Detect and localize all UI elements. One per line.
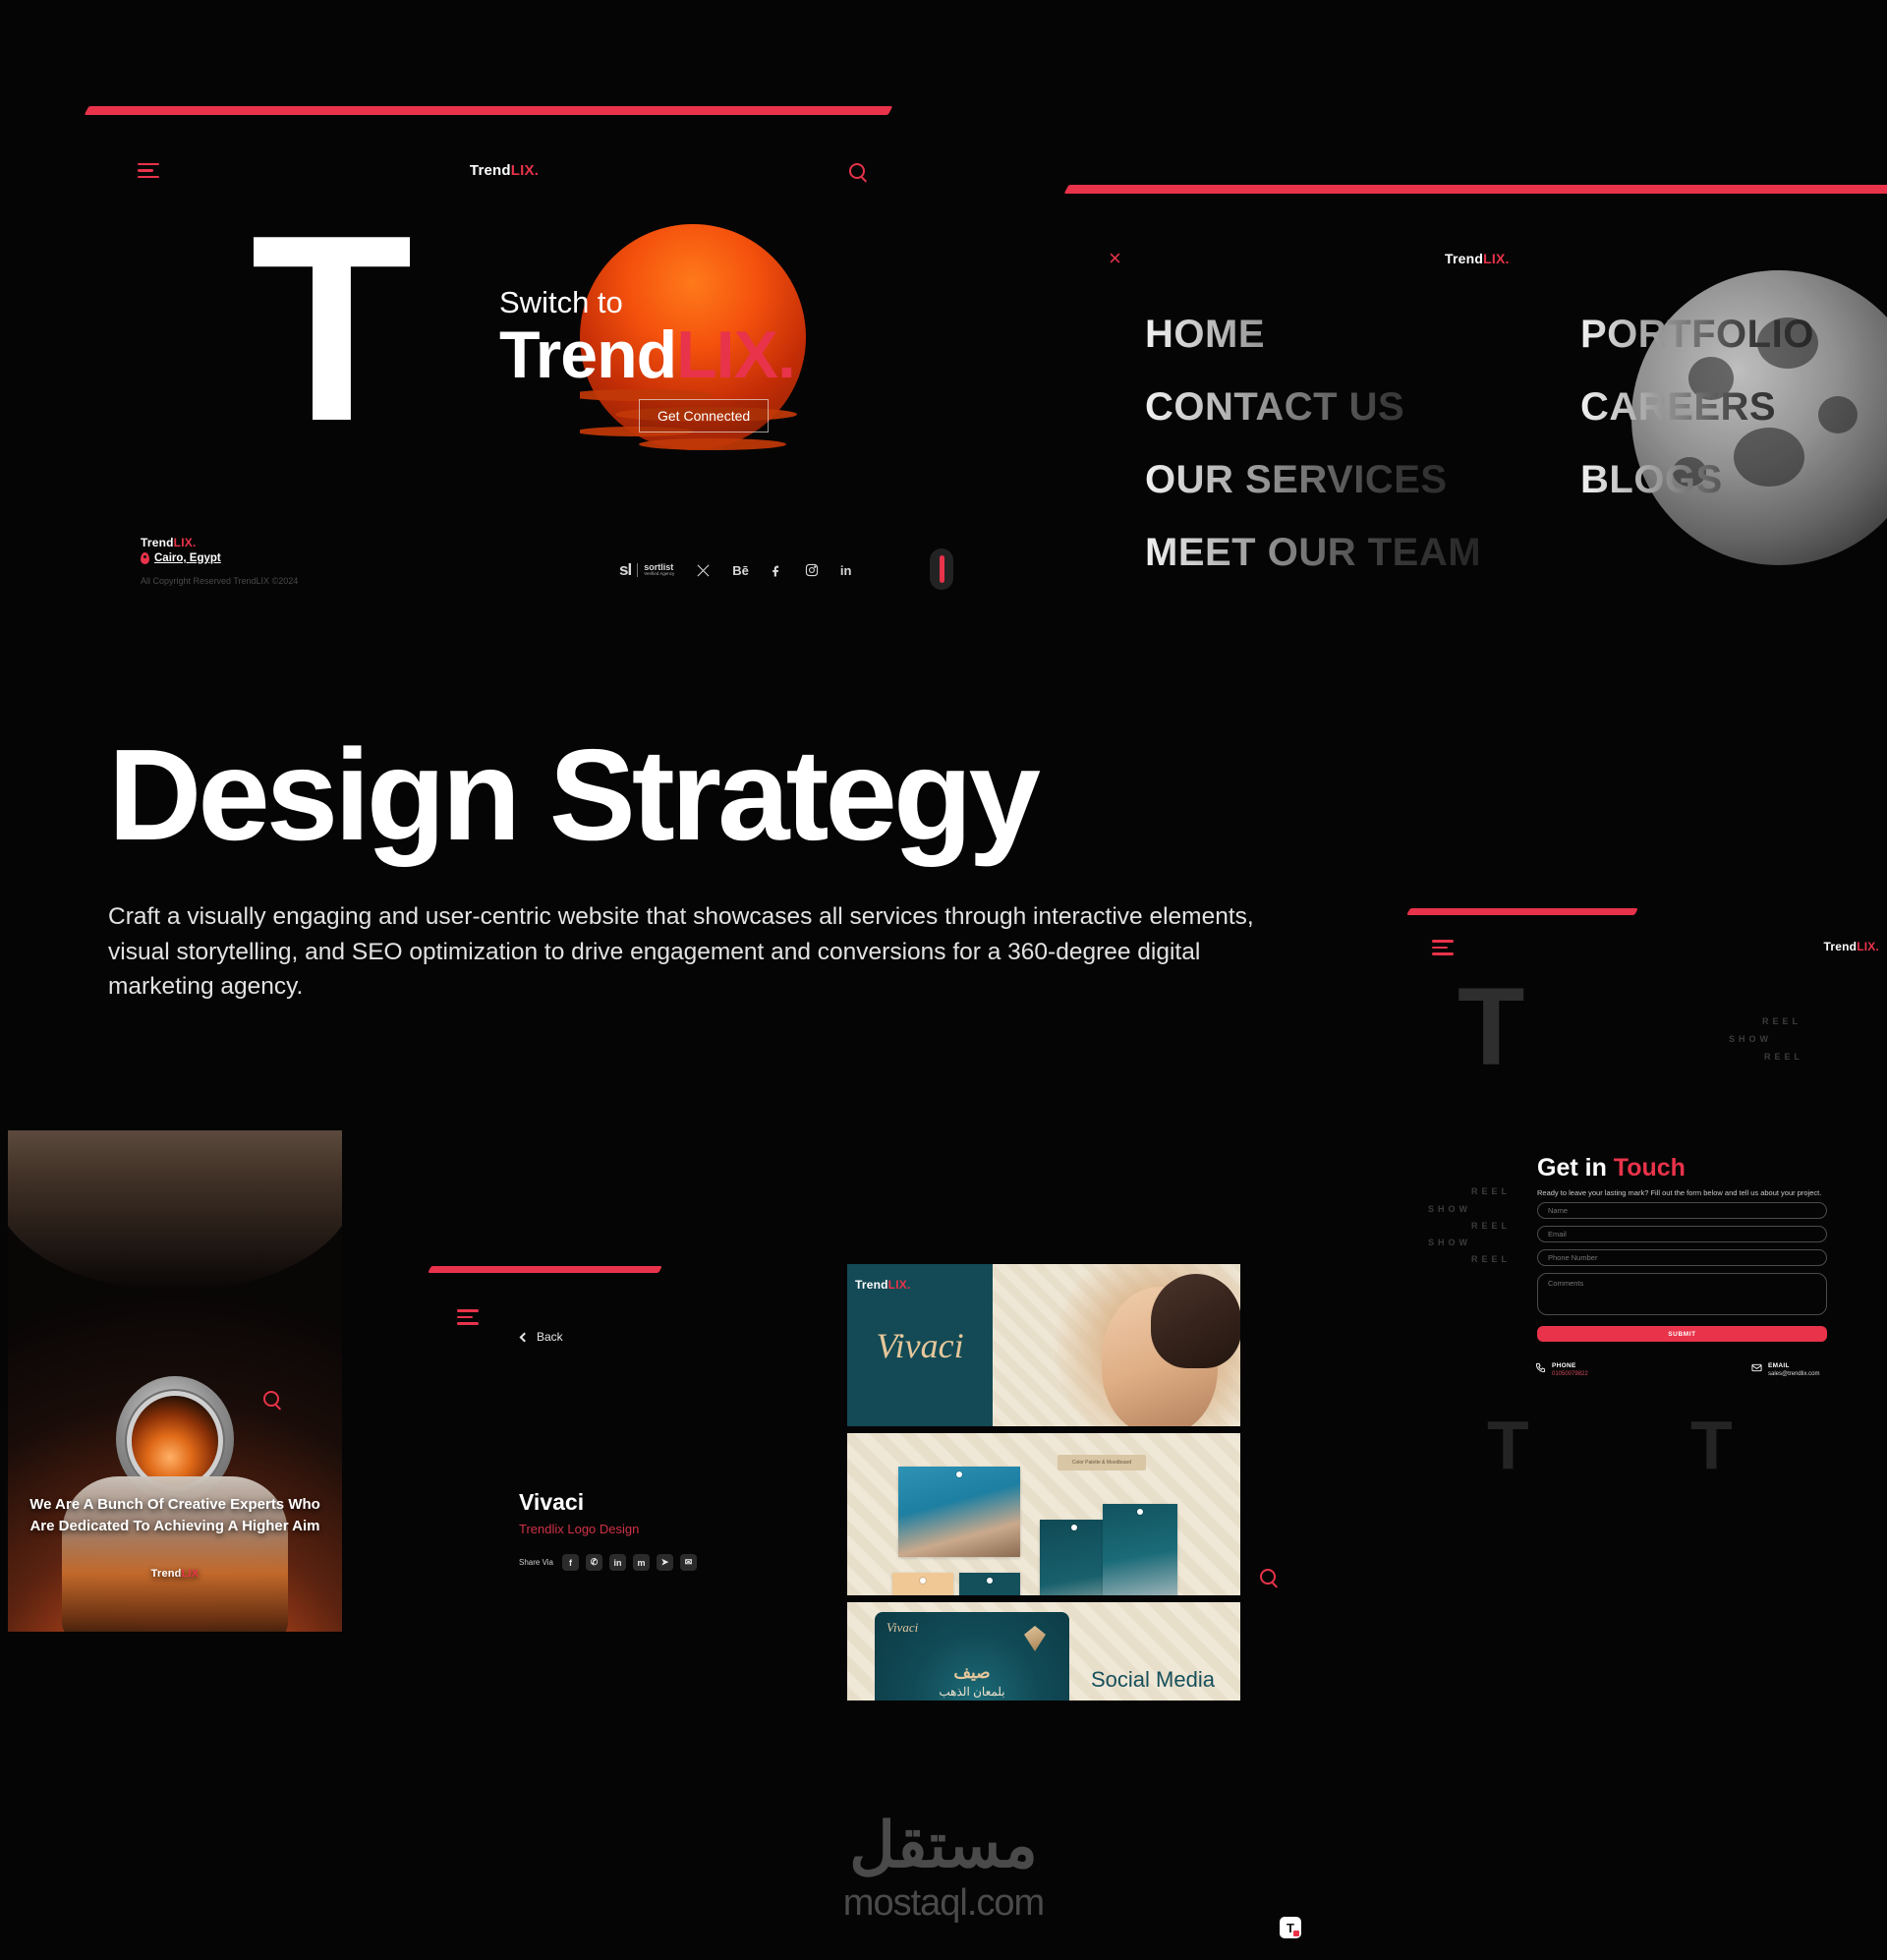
menu-item-blogs[interactable]: BLOGS [1580,460,1814,499]
astronaut-logo-accent: LIX [182,1568,200,1580]
mockup-logo-accent: LIX. [888,1278,911,1292]
share-label: Share Via [519,1558,553,1567]
reel-word: SHOW [1428,1238,1471,1247]
hero-navbar: TrendLIX. [138,162,865,179]
logo-text-primary: Trend [470,162,511,179]
footer-logo-accent: LIX. [174,536,197,549]
location-label: Cairo, Egypt [154,552,221,564]
instagram-icon[interactable] [805,563,819,577]
submit-button[interactable]: SUBMIT [1537,1326,1827,1342]
mockups-panel: TrendLIX. Vivaci Color Palette & Moodboa… [847,1256,1240,1767]
back-button[interactable]: Back [521,1330,563,1344]
astronaut-logo: TrendLIX [8,1568,342,1580]
messenger-share-icon[interactable]: m [633,1554,650,1571]
astronaut-visor [132,1396,218,1486]
get-connected-button[interactable]: Get Connected [639,399,769,432]
back-label: Back [537,1330,563,1344]
search-icon[interactable] [1260,1569,1276,1585]
logo-text-accent: LIX [511,162,535,179]
contact-logo-accent: LIX. [1857,940,1879,953]
menu-logo[interactable]: TrendLIX. [1445,251,1510,266]
hero-logo[interactable]: TrendLIX. [470,162,539,179]
moodboard-photo [898,1467,1020,1557]
social-links: sl sortlist Verified Agency Bē in [619,560,851,580]
hero-eyebrow: Switch to [499,285,623,320]
email-icon [1751,1362,1762,1373]
linkedin-share-icon[interactable]: in [609,1554,626,1571]
menu-item-portfolio[interactable]: PORTFOLIO [1580,315,1814,354]
color-swatch: Color Palette [959,1573,1020,1595]
hero-location[interactable]: Cairo, Egypt [141,552,221,564]
post-wordmark: Vivaci [886,1620,918,1636]
reel-word: SHOW [1428,1204,1471,1214]
strategy-section: Design Strategy Craft a visually engagin… [108,727,1415,1005]
trendlix-badge-icon[interactable]: T [1280,1917,1301,1938]
contact-title-accent: Touch [1614,1154,1686,1182]
hamburger-menu-icon[interactable] [457,1309,479,1325]
hero-footer-logo: TrendLIX. [141,536,196,549]
contact-logo-primary: Trend [1824,940,1858,953]
hero-headline-accent: LIX [676,317,777,392]
reel-word: SHOW [1729,1034,1772,1044]
watermark-latin: mostaql.com [843,1882,1044,1925]
hero-accent-bar [85,106,893,115]
search-icon[interactable] [849,163,865,179]
phone-icon [1535,1362,1546,1373]
menu-item-contact-us[interactable]: CONTACT US [1145,387,1481,427]
phone-label: PHONE [1552,1362,1588,1369]
astronaut-panel: We Are A Bunch Of Creative Experts Who A… [8,1130,342,1632]
project-detail-panel: Back Vivaci Trendlix Logo Design Share V… [413,1258,708,1573]
menu-item-our-services[interactable]: OUR SERVICES [1145,460,1481,499]
contact-title: Get in Touch [1537,1154,1686,1182]
astronaut-caption: We Are A Bunch Of Creative Experts Who A… [8,1494,342,1537]
hero-headline-dot: . [777,317,795,392]
reel-word: REEL [1764,1052,1803,1062]
scroll-indicator[interactable] [930,548,953,590]
hamburger-menu-icon[interactable] [138,163,159,179]
page-title: Design Strategy [108,727,1415,862]
contact-subtitle: Ready to leave your lasting mark? Fill o… [1537,1188,1821,1197]
vivaci-wordmark: Vivaci [876,1325,963,1366]
whatsapp-share-icon[interactable]: ✆ [586,1554,602,1571]
contact-logo[interactable]: TrendLIX. [1824,940,1879,953]
phone-field[interactable] [1537,1249,1827,1266]
share-row: Share Via f ✆ in m ➤ ✉ [519,1554,697,1571]
hero-letter-mark: T [251,226,407,433]
strategy-description: Craft a visually engaging and user-centr… [108,899,1278,1005]
menu-item-careers[interactable]: CAREERS [1580,387,1814,427]
email-info[interactable]: EMAIL sales@trendlix.com [1751,1362,1819,1377]
menu-logo-primary: Trend [1445,251,1483,266]
chevron-left-icon [520,1332,530,1342]
menu-accent-bar [1064,185,1887,194]
menu-item-home[interactable]: HOME [1145,315,1481,354]
footer-logo-primary: Trend [141,536,174,549]
email-label: EMAIL [1768,1362,1819,1369]
facebook-share-icon[interactable]: f [562,1554,579,1571]
moodboard-photo [1040,1520,1109,1595]
poster-canvas: TrendLIX. T Switch to TrendLIX. Get Conn… [0,0,1887,1960]
mockup-logo-primary: Trend [855,1278,888,1292]
ghost-letter-mark: T [1487,1417,1529,1472]
email-field[interactable] [1537,1226,1827,1242]
linkedin-icon[interactable]: in [840,563,852,578]
color-swatch: Color Palette [892,1573,953,1595]
project-name: Vivaci [519,1489,584,1516]
reel-word: REEL [1471,1221,1511,1231]
location-pin-icon [141,552,149,564]
email-value: sales@trendlix.com [1768,1371,1819,1377]
x-twitter-icon[interactable] [696,563,711,578]
post-arabic-headline: صيف [875,1663,1069,1683]
ghost-letter-mark: T [1690,1417,1733,1472]
mockup-moodboard-card[interactable]: Color Palette & Moodboard Color Palette … [847,1433,1240,1595]
phone-value: 01050079822 [1552,1371,1588,1377]
mostaql-watermark: مستقل mostaql.com [843,1814,1044,1925]
astronaut-logo-primary: Trend [151,1568,182,1580]
reel-word: REEL [1471,1186,1511,1196]
phone-info[interactable]: PHONE 01050079822 [1535,1362,1588,1377]
contact-title-primary: Get in [1537,1154,1614,1182]
menu-item-meet-our-team[interactable]: MEET OUR TEAM [1145,533,1481,572]
behance-icon[interactable]: Bē [732,563,749,578]
menu-logo-accent: LIX. [1483,251,1509,266]
moodboard-photo [1103,1504,1177,1595]
social-media-label: Social Media [1091,1667,1215,1693]
watermark-arabic: مستقل [843,1814,1044,1876]
contact-panel: TrendLIX. T REEL SHOW REEL REEL SHOW REE… [1401,896,1887,1299]
facebook-icon[interactable] [771,563,783,578]
model-hair [1151,1274,1240,1368]
hero-copyright: All Copyright Reserved TrendLIX ©2024 [141,576,298,586]
reel-word: REEL [1762,1016,1801,1026]
moodboard-note: Color Palette & Moodboard [1058,1455,1146,1470]
hamburger-menu-icon[interactable] [1432,940,1454,955]
telegram-share-icon[interactable]: ➤ [657,1554,673,1571]
ghost-letter-mark: T [1458,983,1520,1071]
hero-headline-primary: Trend [499,317,676,392]
sun-ripple [639,438,786,450]
post-arabic-sub: بلمعان الذهب [875,1685,1069,1699]
close-icon[interactable]: × [1109,248,1121,269]
contact-accent-bar [1406,908,1638,915]
search-icon[interactable] [263,1391,279,1407]
project-type: Trendlix Logo Design [519,1522,639,1536]
menu-column-right: PORTFOLIO CAREERS BLOGS [1580,315,1814,499]
menu-column-left: HOME CONTACT US OUR SERVICES MEET OUR TE… [1145,315,1481,572]
social-post: Vivaci صيف بلمعان الذهب [875,1612,1069,1701]
hero-panel: TrendLIX. T Switch to TrendLIX. Get Conn… [0,0,943,629]
name-field[interactable] [1537,1202,1827,1219]
logo-dot: . [535,162,539,179]
mockup-logo: TrendLIX. [855,1278,910,1292]
diamond-icon [1024,1626,1046,1651]
reel-word: REEL [1471,1254,1511,1264]
detail-accent-bar [428,1266,662,1273]
mockup-model-photo [993,1264,1240,1426]
email-share-icon[interactable]: ✉ [680,1554,697,1571]
hero-headline: TrendLIX. [499,317,795,393]
comments-field[interactable] [1537,1273,1827,1315]
mockup-social-card[interactable]: Vivaci صيف بلمعان الذهب Social Media [847,1602,1240,1701]
sortlist-badge-icon[interactable]: sl sortlist Verified Agency [619,560,674,580]
